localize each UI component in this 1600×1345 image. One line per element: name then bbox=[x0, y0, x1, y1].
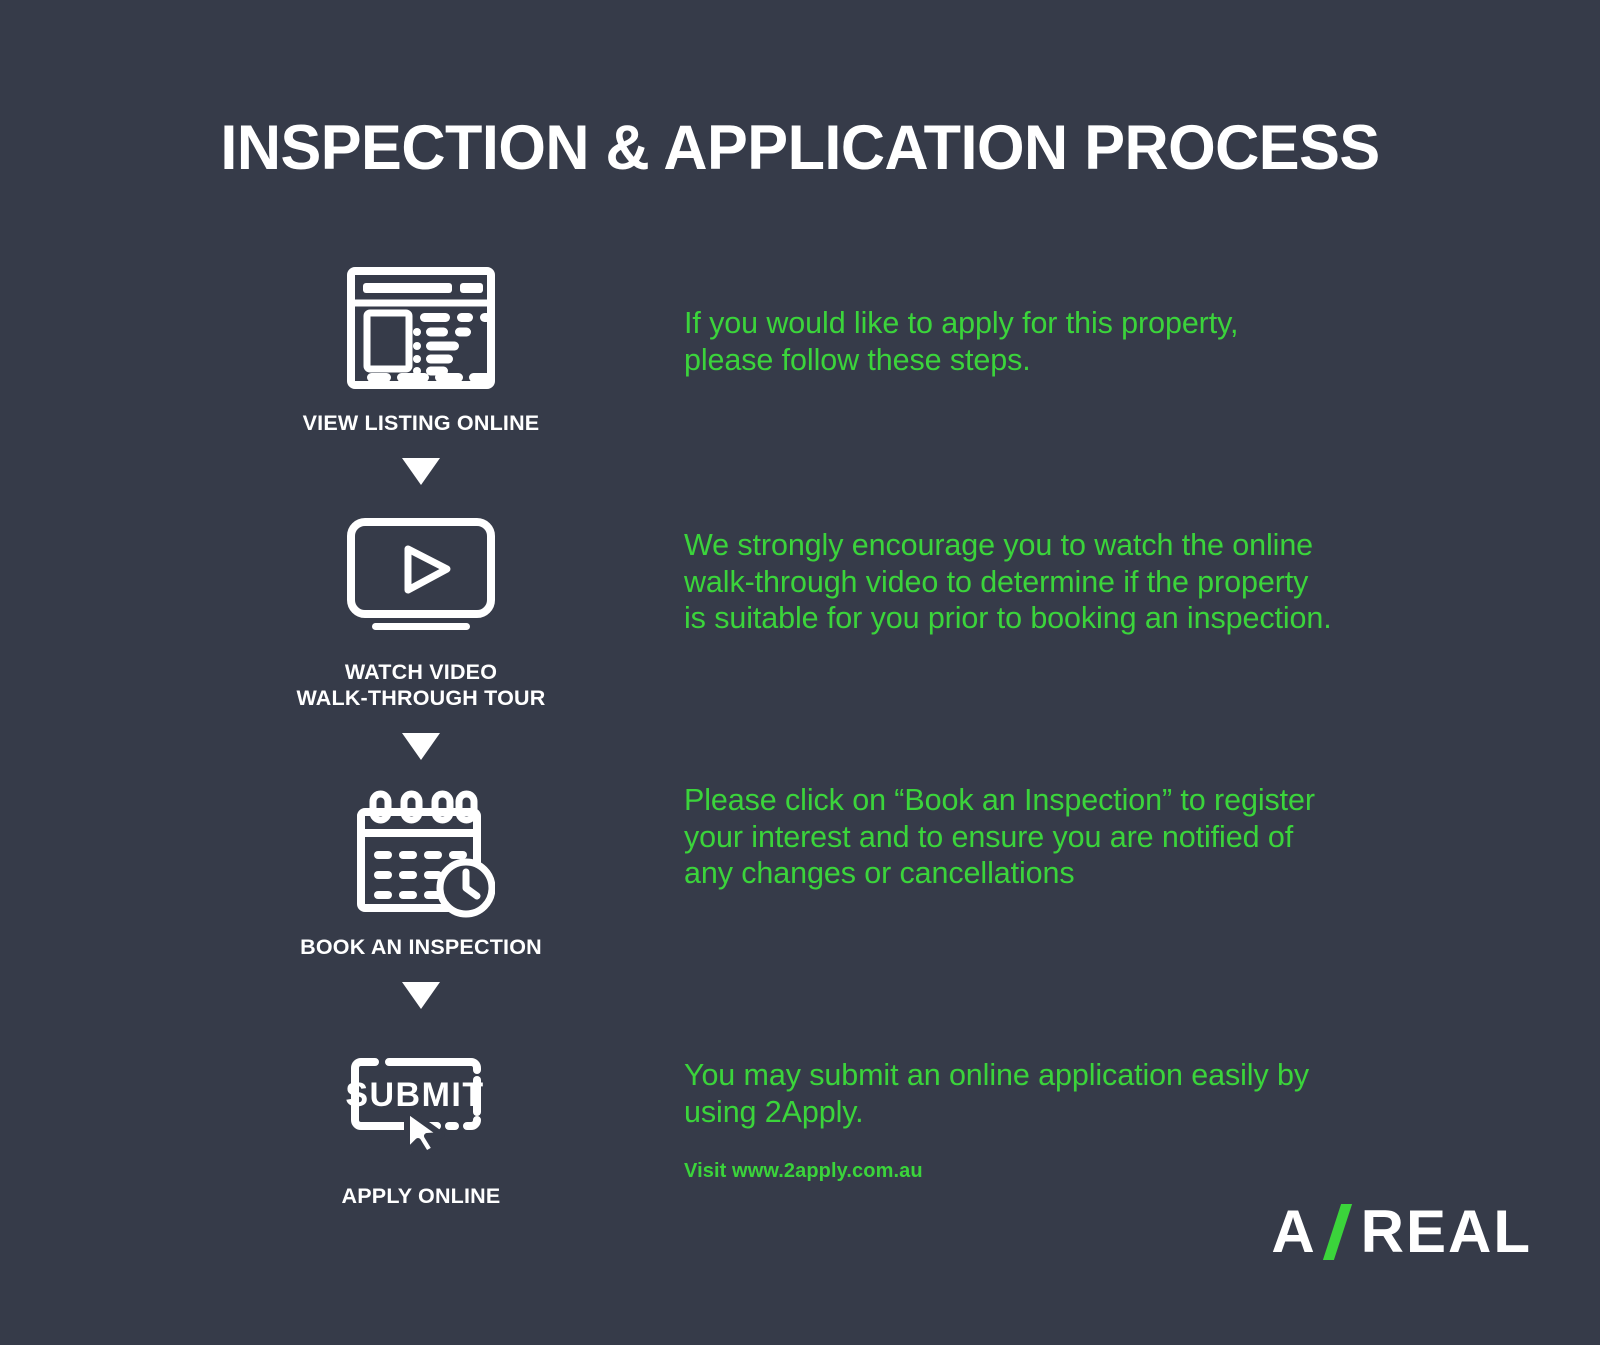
flow-arrow-1 bbox=[175, 458, 667, 485]
step-book-inspection: BOOK AN INSPECTION bbox=[175, 782, 667, 960]
paragraph-view-listing: If you would like to apply for this prop… bbox=[684, 305, 1238, 378]
calendar-clock-icon bbox=[175, 782, 667, 922]
submit-icon-text: SUBMIT bbox=[345, 1076, 484, 1114]
logo-letter-a: A bbox=[1271, 1197, 1316, 1266]
logo-slash-icon bbox=[1319, 1204, 1359, 1260]
paragraph-book-inspection: Please click on “Book an Inspection” to … bbox=[684, 782, 1315, 892]
step-flow: VIEW LISTING ONLINE WATCH VIDEO WALK-THR… bbox=[175, 258, 667, 1209]
infographic-page: INSPECTION & APPLICATION PROCESS bbox=[0, 0, 1600, 1345]
step-label-book-inspection: BOOK AN INSPECTION bbox=[175, 934, 667, 960]
step-watch-video: WATCH VIDEO WALK-THROUGH TOUR bbox=[175, 507, 667, 711]
flow-arrow-3 bbox=[175, 982, 667, 1009]
areal-logo: A REAL bbox=[1271, 1197, 1532, 1266]
page-title: INSPECTION & APPLICATION PROCESS bbox=[24, 112, 1576, 184]
logo-word-real: REAL bbox=[1361, 1197, 1532, 1266]
step-label-view-listing: VIEW LISTING ONLINE bbox=[175, 410, 667, 436]
submit-button-cursor-icon: SUBMIT bbox=[175, 1031, 667, 1171]
paragraph-apply-online: You may submit an online application eas… bbox=[684, 1057, 1309, 1130]
step-label-watch-video: WATCH VIDEO WALK-THROUGH TOUR bbox=[175, 659, 667, 711]
step-view-listing: VIEW LISTING ONLINE bbox=[175, 258, 667, 436]
step-label-apply-online: APPLY ONLINE bbox=[175, 1183, 667, 1209]
visit-url-line[interactable]: Visit www.2apply.com.au bbox=[684, 1160, 923, 1183]
video-play-monitor-icon bbox=[175, 507, 667, 647]
paragraph-watch-video: We strongly encourage you to watch the o… bbox=[684, 527, 1332, 637]
flow-arrow-2 bbox=[175, 733, 667, 760]
step-apply-online: SUBMIT APPLY ONLINE bbox=[175, 1031, 667, 1209]
listing-page-icon bbox=[175, 258, 667, 398]
